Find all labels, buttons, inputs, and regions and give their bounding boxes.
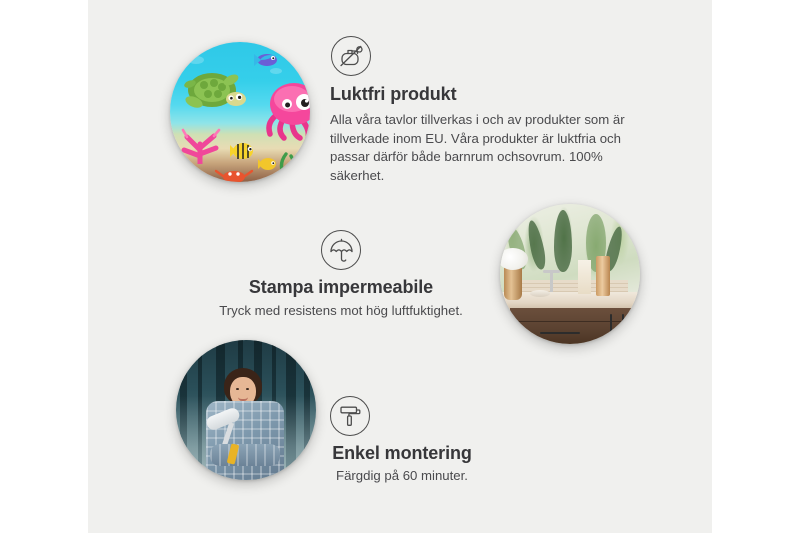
water-highlight: [188, 56, 204, 64]
no-odor-perfume-bottle-icon: [331, 36, 371, 76]
drawer-divider: [510, 321, 640, 322]
paint-roller-icon: [330, 396, 370, 436]
underwater-kids-mural-circle: [170, 42, 310, 182]
feature-body: Alla våra tavlor tillverkas i och av pro…: [330, 111, 626, 186]
blue-fish-illustration: [254, 52, 278, 68]
wallpaper-leaf: [554, 210, 572, 272]
woman-with-paint-roller-forest-mural-circle: [176, 340, 316, 480]
folded-arms: [210, 444, 280, 466]
feature-waterproof: Stampa impermeabile Tryck med resistens …: [196, 230, 486, 321]
door-handle: [622, 314, 624, 342]
icon-wrap: [330, 36, 626, 76]
woman-figure: [202, 368, 288, 480]
sea-turtle-illustration: [184, 72, 250, 116]
soap-dish: [530, 290, 550, 297]
feature-title: Luktfri produkt: [330, 84, 626, 105]
water-highlight: [270, 68, 282, 74]
feature-odorless: Luktfri produkt Alla våra tavlor tillver…: [330, 36, 626, 186]
yellow-fish-illustration: [230, 140, 256, 162]
feature-mounting: Enkel montering Färgdig på 60 minuter.: [306, 396, 498, 486]
umbrella-icon: [321, 230, 361, 270]
feature-body: Färgdig på 60 minuter.: [306, 467, 498, 486]
feature-title: Stampa impermeabile: [196, 277, 486, 298]
door-handle: [610, 314, 612, 342]
icon-wrap: [196, 230, 486, 270]
eye: [246, 388, 249, 390]
wallpaper-leaf: [525, 219, 548, 271]
drawer-handle: [540, 332, 580, 334]
infographic-canvas: Luktfri produkt Alla våra tavlor tillver…: [0, 0, 800, 533]
coral-illustration: [178, 124, 224, 164]
seaweed-illustration: [274, 142, 300, 176]
soap-bottle: [578, 260, 591, 294]
bathroom-vanity-leaf-wallpaper-circle: [500, 204, 640, 344]
icon-wrap: [306, 396, 498, 436]
chrome-faucet: [550, 270, 553, 292]
reed-diffuser: [596, 256, 610, 296]
crab-illustration: [214, 166, 254, 182]
octopus-illustration: [258, 80, 310, 142]
feature-title: Enkel montering: [306, 443, 498, 464]
feature-body: Tryck med resistens mot hög luftfuktighe…: [196, 302, 486, 321]
wood-vanity-cabinet: [510, 308, 640, 344]
eye: [236, 388, 239, 390]
